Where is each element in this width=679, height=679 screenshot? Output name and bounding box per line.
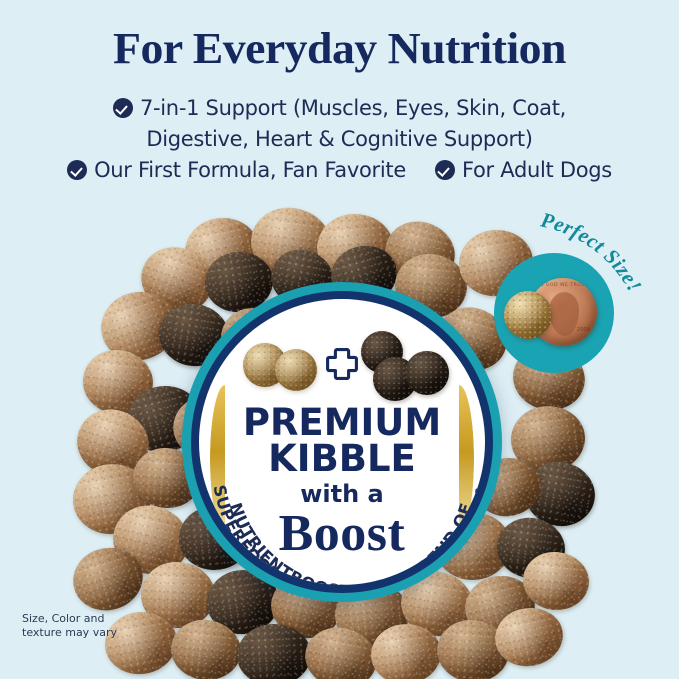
bullet-item-first-formula: Our First Formula, Fan Favorite [67,155,406,186]
check-circle-icon [67,160,87,180]
bullet-item-adult-dogs: For Adult Dogs [435,155,612,186]
badge-kibble-piece [275,349,317,391]
medical-cross-icon [325,347,359,381]
penny-motto: IN GOD WE TRUST [537,283,589,292]
check-circle-icon [435,160,455,180]
badge-kibble-piece [405,351,449,395]
bullet-label: For Adult Dogs [462,155,612,186]
perfect-size-kibble [504,291,552,339]
feature-bullet-list: 7-in-1 Support (Muscles, Eyes, Skin, Coa… [0,93,679,186]
bullet-label: Our First Formula, Fan Favorite [94,155,406,186]
disclaimer-text: Size, Color and texture may vary [22,612,117,640]
badge-inner-face: PREMIUM KIBBLE with a Boost NUTRIENTBOOS… [199,299,485,585]
bullet-row-3: Our First Formula, Fan Favorite For Adul… [0,155,679,186]
badge-line-boost: Boost [199,509,485,559]
page-title: For Everyday Nutrition [0,26,679,72]
badge-line-kibble: KIBBLE [199,441,485,477]
badge-text-block: PREMIUM KIBBLE with a Boost [199,405,485,559]
premium-kibble-badge: PREMIUM KIBBLE with a Boost NUTRIENTBOOS… [182,282,502,602]
penny-year: 2008 [577,327,590,333]
check-circle-icon [113,98,133,118]
bullet-row-1: 7-in-1 Support (Muscles, Eyes, Skin, Coa… [0,93,679,124]
perfect-size-callout: IN GOD WE TRUST 2008 Perfect Size! [494,253,614,373]
badge-kibble-cluster-light [243,339,321,391]
badge-navy-ring: PREMIUM KIBBLE with a Boost NUTRIENTBOOS… [191,291,493,593]
bullet-row-2: Digestive, Heart & Cognitive Support) [0,124,679,155]
bullet-item-7-in-1-support: 7-in-1 Support (Muscles, Eyes, Skin, Coa… [113,93,566,124]
badge-line-premium: PREMIUM [199,405,485,441]
badge-kibble-cluster-dark [359,331,449,397]
penny-lincoln-profile-icon [549,292,579,336]
bullet-label-continued: Digestive, Heart & Cognitive Support) [0,124,679,155]
bullet-label: 7-in-1 Support (Muscles, Eyes, Skin, Coa… [140,93,566,124]
product-marketing-image: For Everyday Nutrition 7-in-1 Support (M… [0,0,679,679]
